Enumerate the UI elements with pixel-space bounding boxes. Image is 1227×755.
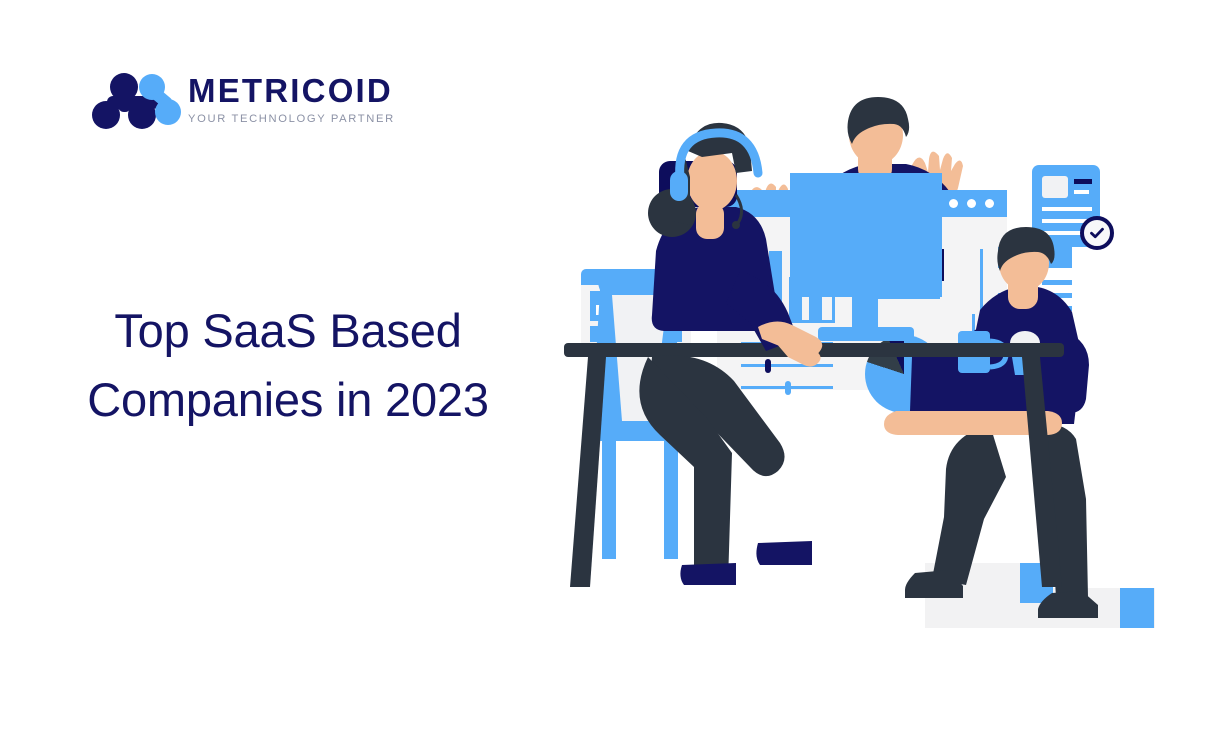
brand-logo-text: METRICOID YOUR TECHNOLOGY PARTNER bbox=[188, 74, 478, 125]
page-title: Top SaaS Based Companies in 2023 bbox=[72, 296, 504, 434]
metricoid-molecule-logo-icon bbox=[92, 70, 184, 132]
brand-name: METRICOID bbox=[188, 74, 478, 107]
saas-teamwork-illustration: </> bbox=[560, 95, 1180, 655]
brand-logo[interactable]: METRICOID YOUR TECHNOLOGY PARTNER bbox=[92, 66, 392, 136]
seated-woman-with-headset bbox=[560, 95, 1180, 655]
poster-canvas: METRICOID YOUR TECHNOLOGY PARTNER Top Sa… bbox=[0, 0, 1227, 755]
brand-tagline: YOUR TECHNOLOGY PARTNER bbox=[188, 114, 478, 125]
